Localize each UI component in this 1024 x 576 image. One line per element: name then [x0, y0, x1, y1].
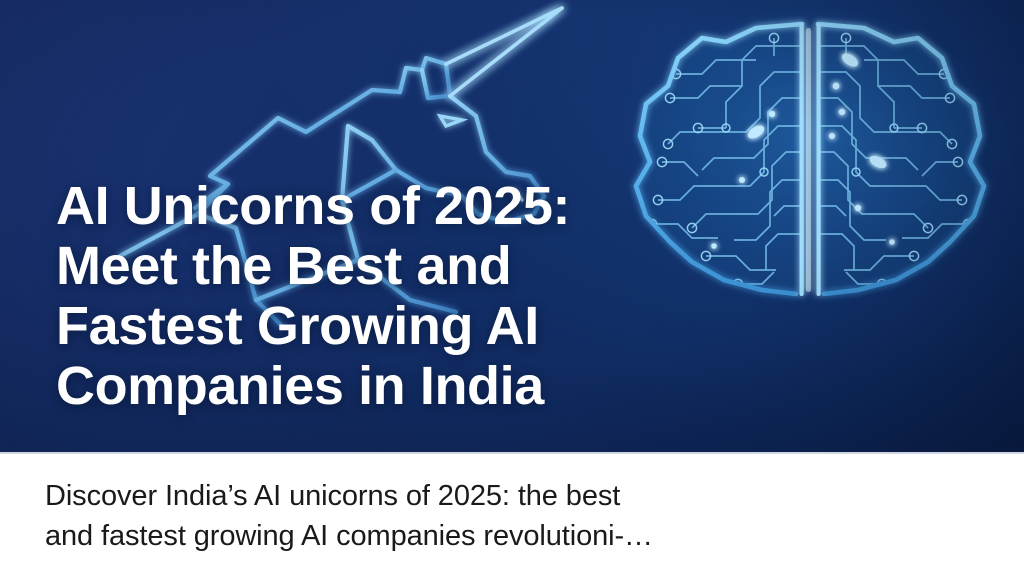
title-line-3: Fastest Growing AI: [56, 296, 836, 356]
title-line-1: AI Unicorns of 2025:: [56, 176, 836, 236]
title-line-2: Meet the Best and: [56, 236, 836, 296]
excerpt-line-1: Discover India’s AI unicorns of 2025: th…: [45, 476, 985, 516]
hero-banner: AI Unicorns of 2025: Meet the Best and F…: [0, 0, 1024, 452]
article-excerpt-band: Discover India’s AI unicorns of 2025: th…: [0, 452, 1024, 576]
page-title: AI Unicorns of 2025: Meet the Best and F…: [56, 176, 836, 416]
article-excerpt: Discover India’s AI unicorns of 2025: th…: [45, 476, 985, 556]
excerpt-line-2: and fastest growing AI companies revolut…: [45, 516, 985, 556]
article-hero-card: AI Unicorns of 2025: Meet the Best and F…: [0, 0, 1024, 576]
title-line-4: Companies in India: [56, 356, 836, 416]
